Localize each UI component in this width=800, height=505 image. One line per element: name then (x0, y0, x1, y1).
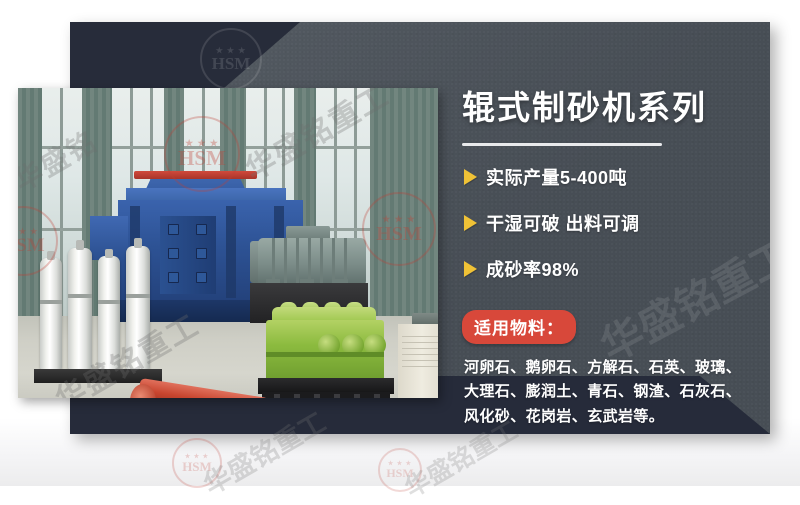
cylinder-band (68, 294, 92, 298)
product-photo: ★ ★ ★ HSM 华盛铭重工 华盛铭 ★ ★ ★ HSM 华盛铭重工 ★ ★ … (18, 88, 438, 398)
product-info: 辊式制砂机系列 实际产量5-400吨 干湿可破 出料可调 成砂率98% 适用物料… (458, 90, 758, 429)
motor-cooling-fin (284, 238, 287, 286)
arrow-right-icon (464, 169, 477, 185)
pedestal-slot (294, 394, 300, 398)
pedestal-slot (374, 394, 380, 398)
cylinder-band (126, 294, 150, 298)
gas-cylinder (98, 256, 120, 370)
crusher-bolt (168, 248, 179, 259)
window-transom (246, 146, 294, 149)
arrow-right-icon (464, 261, 477, 277)
crusher-bolt (196, 272, 207, 283)
crusher-bolt (196, 224, 207, 235)
cylinder-valve (134, 238, 142, 248)
gas-cylinder (40, 258, 62, 370)
gas-cylinder (126, 246, 150, 370)
window-transom (112, 146, 164, 149)
feature-item-1: 实际产量5-400吨 (464, 164, 758, 190)
motor-cooling-fin (320, 238, 323, 286)
crusher-hopper-rim (134, 171, 257, 179)
watermark-stars: ★ ★ ★ (388, 461, 412, 467)
materials-badge: 适用物料： (462, 310, 576, 344)
pedestal-slot (274, 394, 280, 398)
watermark-seal-page-bottom: ★ ★ ★ HSM (172, 438, 222, 488)
window-transom (42, 228, 82, 231)
cylinder-valve (47, 251, 55, 260)
title-divider (462, 143, 662, 146)
gearbox-steel-pedestal (262, 392, 390, 398)
pedestal-slot (354, 394, 360, 398)
feature-label: 干湿可破 出料可调 (486, 210, 640, 236)
cabinet-louver (402, 342, 438, 343)
gas-cylinder (68, 248, 92, 370)
materials-list: 河卵石、鹅卵石、方解石、石英、玻璃、大理石、膨润土、青石、钢渣、石灰石、风化砂、… (464, 356, 756, 429)
cabinet-louver (402, 360, 438, 361)
window-transom (184, 146, 220, 149)
feature-label: 实际产量5-400吨 (486, 164, 627, 190)
cylinder-band (40, 300, 62, 304)
watermark-seal-text: HSM (386, 467, 413, 479)
pedestal-slot (334, 394, 340, 398)
crusher-rib (226, 206, 236, 298)
watermark-stars: ★ ★ ★ (185, 454, 209, 460)
cabinet-louver (402, 336, 438, 337)
feature-item-3: 成砂率98% (464, 256, 758, 282)
watermark-seal-text: HSM (182, 460, 212, 473)
crusher-bolt (168, 224, 179, 235)
page-title: 辊式制砂机系列 (462, 90, 758, 127)
cylinder-band (98, 300, 120, 304)
window-transom (42, 146, 82, 149)
feature-item-2: 干湿可破 出料可调 (464, 210, 758, 236)
crusher-bolt (196, 248, 207, 259)
pedestal-slot (314, 394, 320, 398)
hall-wall-left (18, 88, 42, 328)
watermark-seal-page-bottom-right: ★ ★ ★ HSM (378, 448, 422, 492)
crusher-bolt (168, 272, 179, 283)
cabinet-louver (402, 354, 438, 355)
gearbox-split-line (266, 352, 384, 357)
motor-cooling-fin (296, 238, 299, 286)
page-canvas: 华盛铭重工 ★ ★ ★ HSM (0, 0, 800, 486)
cylinder-valve (105, 249, 113, 258)
cylinder-valve (76, 240, 84, 250)
hall-wall-6 (370, 88, 438, 328)
feature-label: 成砂率98% (486, 256, 579, 282)
window-transom (316, 146, 370, 149)
arrow-right-icon (464, 215, 477, 231)
cabinet-louver (402, 348, 438, 349)
cabinet-louver (402, 366, 438, 367)
